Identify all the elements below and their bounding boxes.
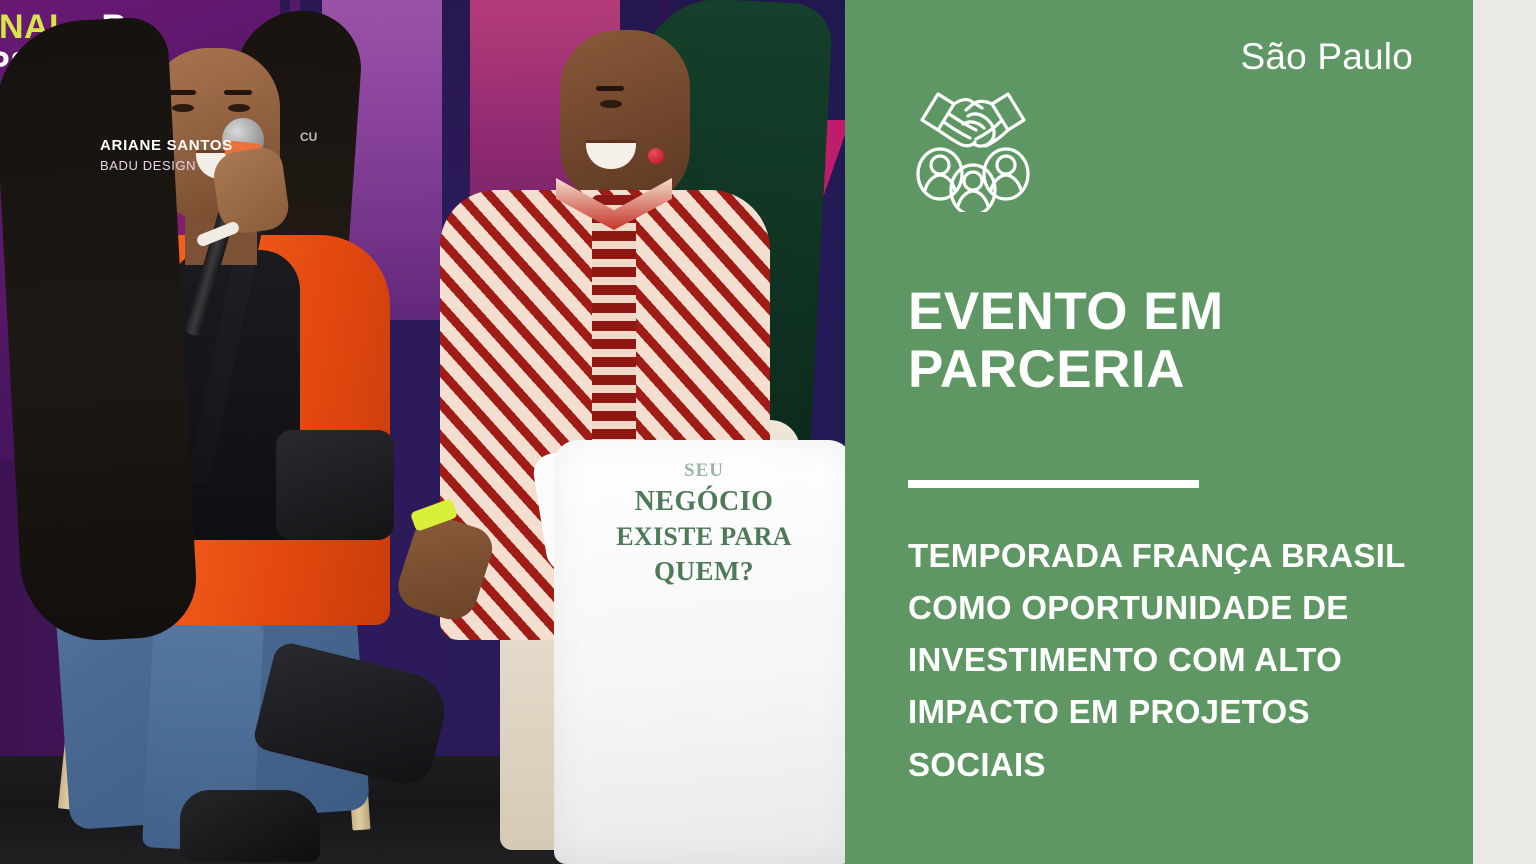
tshirt-line-4: QUEM? xyxy=(554,556,845,587)
poster-canvas: ONAL : R UPS UR LE D CU ARIANE SANTOS BA… xyxy=(0,0,1536,864)
speaker-org-label: BADU DESIGN xyxy=(100,158,196,173)
event-photo: ONAL : R UPS UR LE D CU ARIANE SANTOS BA… xyxy=(0,0,845,864)
speaker-right-face xyxy=(560,30,690,205)
speaker-left-bag xyxy=(276,430,394,540)
speaker-right-brow xyxy=(596,86,624,91)
speaker-left-brow-right xyxy=(224,90,252,95)
tshirt-slogan: SEU NEGÓCIO EXISTE PARA QUEM? xyxy=(554,460,845,587)
handshake-partnership-icon xyxy=(908,72,1038,212)
tshirt-line-2: NEGÓCIO xyxy=(554,486,845,518)
tshirt-line-1: SEU xyxy=(554,460,845,482)
title-divider xyxy=(908,480,1199,488)
poster-logo-small: CU xyxy=(300,130,317,144)
speaker-right-earring xyxy=(648,148,664,164)
tshirt-line-3: EXISTE PARA xyxy=(554,522,845,552)
speaker-left-eye-left xyxy=(172,104,194,112)
speaker-left-shoe xyxy=(180,790,320,862)
speaker-right-eye xyxy=(600,100,622,108)
speaker-left-eye-right xyxy=(228,104,250,112)
speaker-name-label: ARIANE SANTOS xyxy=(100,137,233,154)
speaker-left-hair xyxy=(0,16,199,644)
right-margin-strip xyxy=(1473,0,1536,864)
info-panel: São Paulo xyxy=(845,0,1473,864)
event-description: TEMPORADA FRANÇA BRASIL COMO OPORTUNIDAD… xyxy=(908,530,1408,791)
city-label: São Paulo xyxy=(1240,36,1413,78)
speaker-left-brow-left xyxy=(168,90,196,95)
page-title: EVENTO EM PARCERIA xyxy=(908,283,1378,400)
